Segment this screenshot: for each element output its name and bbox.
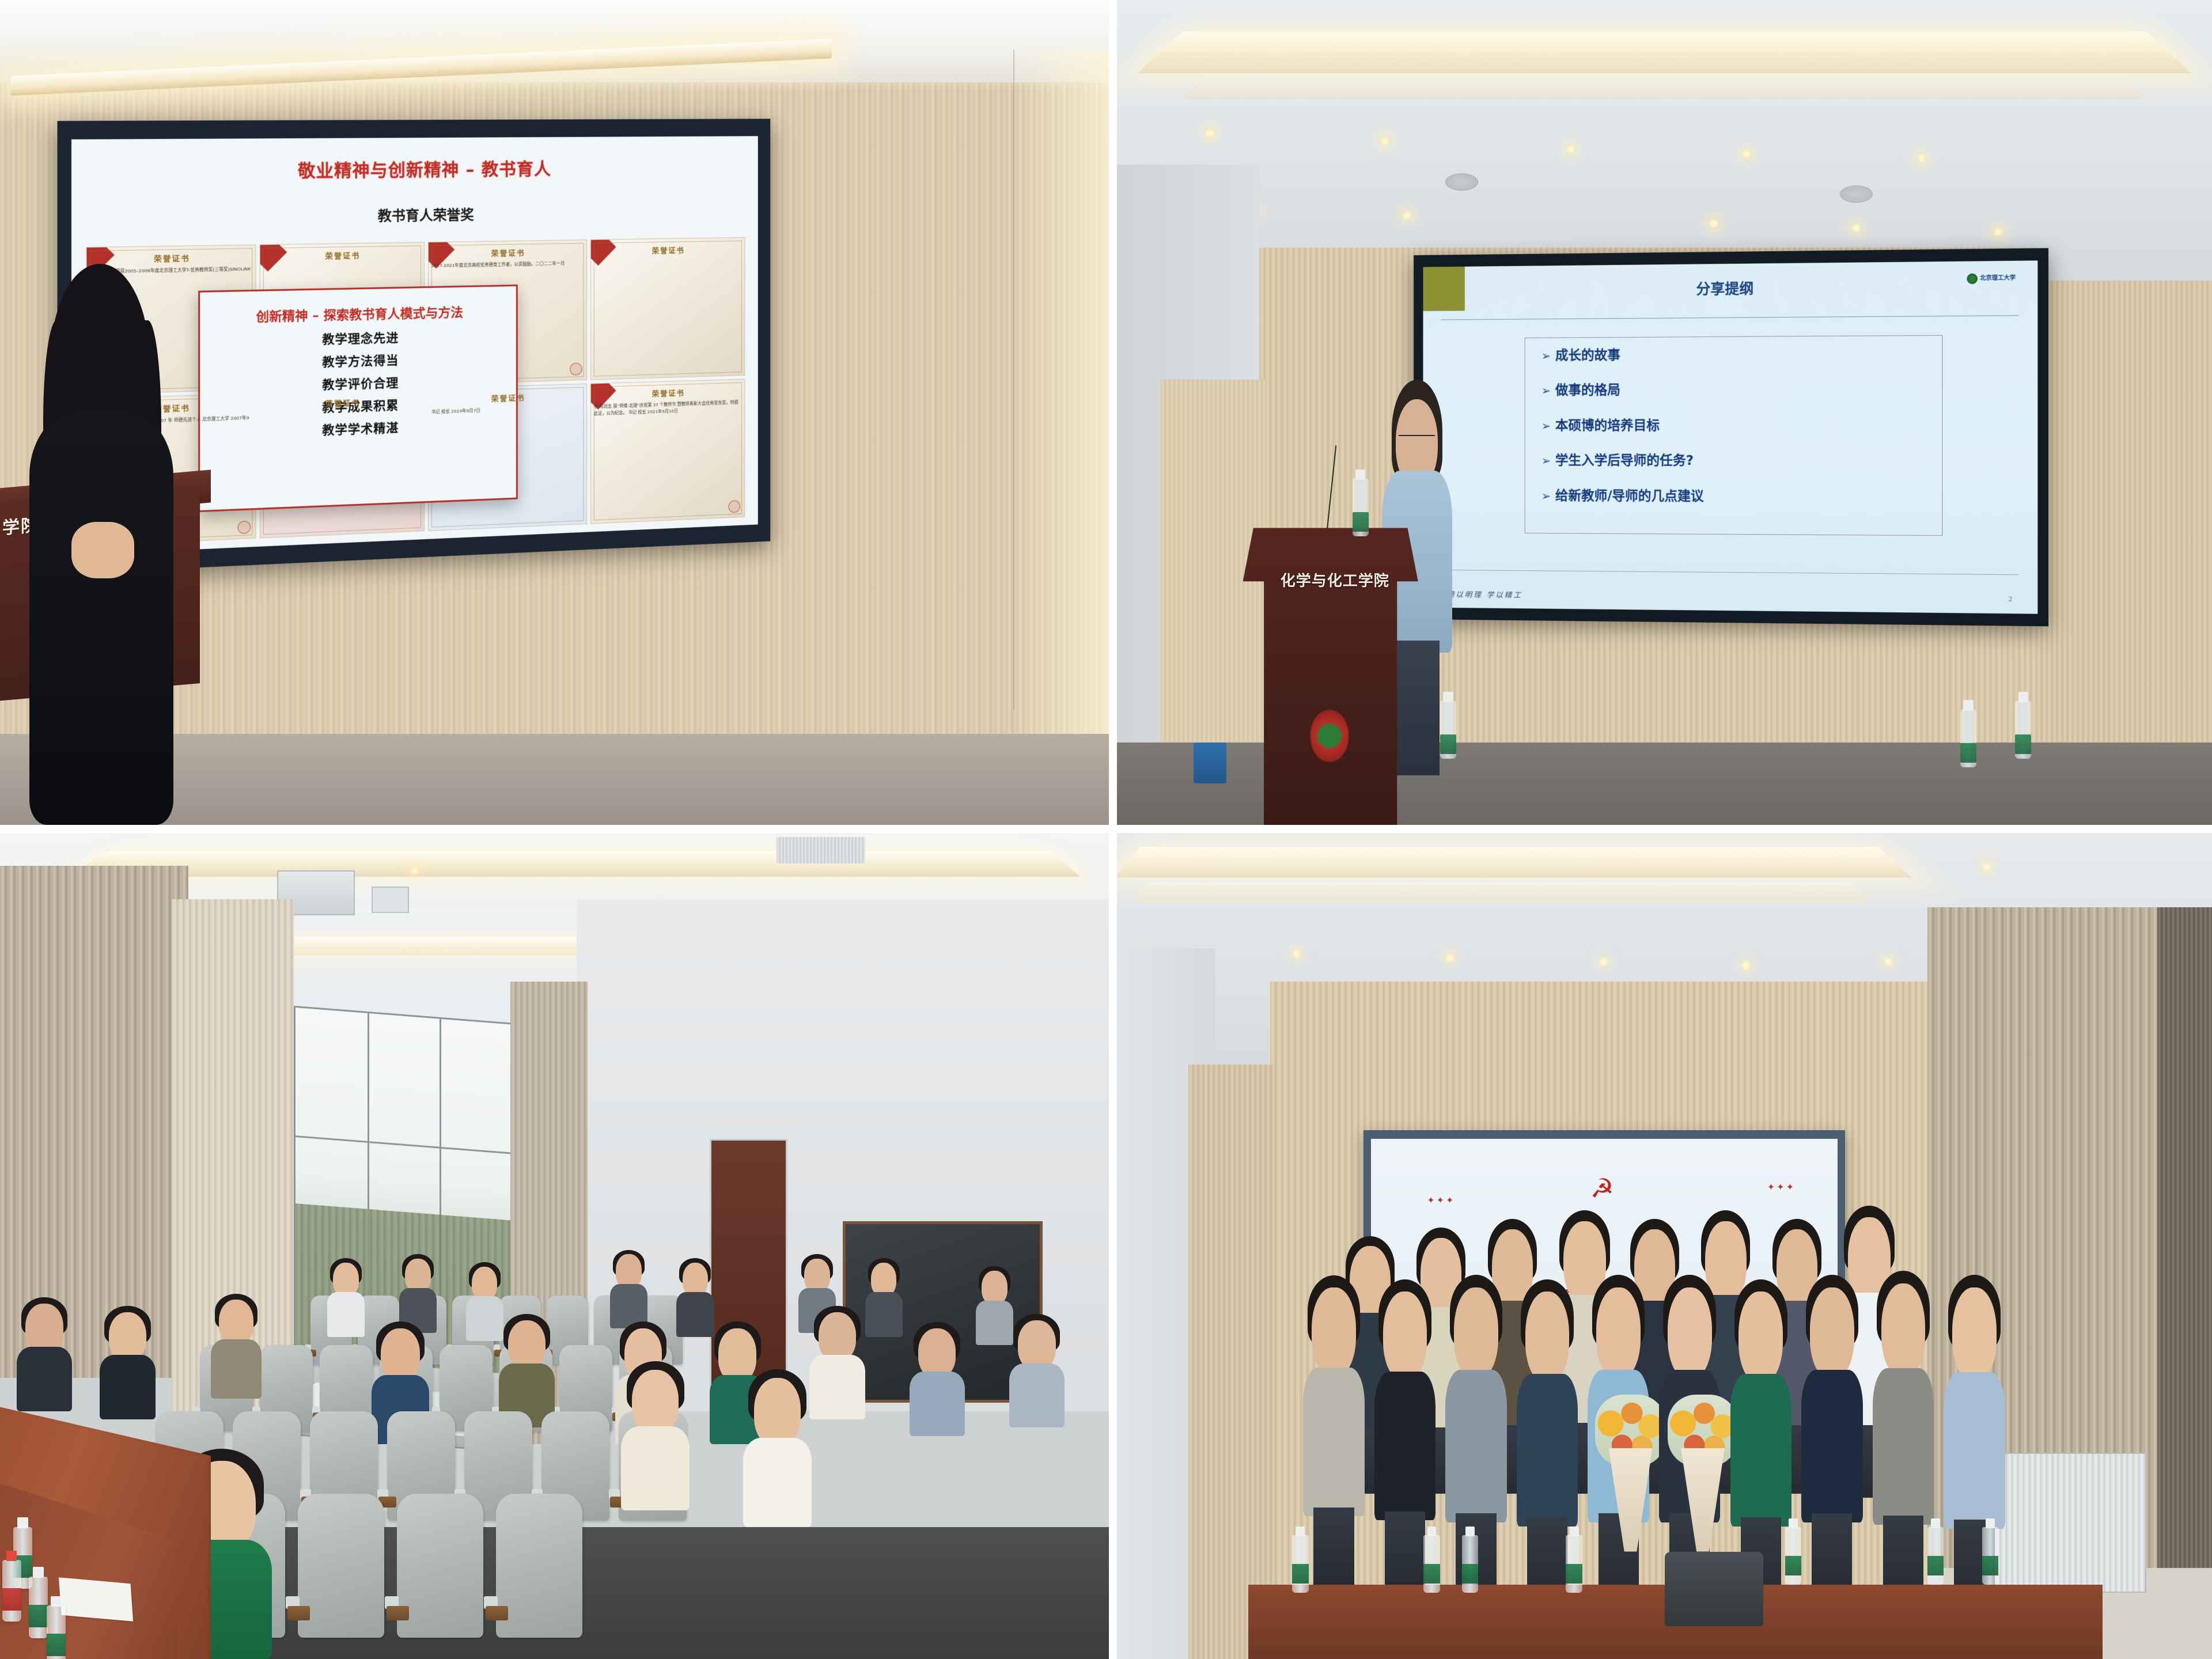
ceiling-grille — [777, 837, 865, 863]
cove-light-inner — [1183, 75, 2145, 100]
downlight — [1851, 223, 1861, 233]
overlay-title: 创新精神 – 探索教书育人模式与方法 — [256, 302, 463, 325]
certificate-body: 李 晖同志 获“师缘·北理”庆祝第 37 个教师节 暨教师表彰大会优秀党务奖，特… — [594, 399, 742, 417]
ceiling-speaker — [1445, 173, 1478, 191]
university-seal-icon — [1310, 710, 1349, 763]
certificate-title: 荣誉证书 — [431, 245, 584, 259]
audience-person — [910, 1328, 965, 1435]
bottle-label — [47, 1634, 66, 1656]
gutter-vertical-bottom — [1109, 833, 1117, 1659]
bouquet-wrapper — [1677, 1448, 1729, 1552]
body — [1944, 1372, 2005, 1529]
bullet-item: ➢给新教师/导师的几点建议 — [1541, 484, 1703, 504]
head — [754, 1378, 801, 1446]
cove-light-right — [1009, 50, 1109, 759]
head — [1454, 1287, 1498, 1379]
head — [1810, 1287, 1854, 1379]
head — [381, 1328, 420, 1381]
head — [804, 1259, 829, 1293]
bullet-label: 学生入学后导师的任务? — [1555, 453, 1694, 468]
audience-person — [809, 1312, 865, 1419]
head — [1668, 1287, 1712, 1379]
photo-collage: 敬业精神与创新精神 – 教书育人 教书育人荣誉奖 荣誉证书 李 晖 老师：荣获2… — [0, 0, 2212, 1659]
body — [1801, 1370, 1862, 1522]
slide-motto: 德以明理 学以精工 — [1447, 589, 1522, 600]
water-bottle — [2, 1560, 21, 1622]
water-bottle — [1423, 1535, 1440, 1593]
slide-canvas: 分享提纲 北京理工大学 ➢成长的故事 ➢做事的格局 ➢本硕博的培养目标 — [1423, 260, 2037, 614]
head — [632, 1370, 679, 1434]
university-logo: 北京理工大学 — [1967, 273, 2016, 284]
water-bottle — [2015, 701, 2032, 759]
body — [1374, 1372, 1435, 1520]
audience-person — [466, 1267, 503, 1341]
certificate-seal — [570, 362, 582, 375]
bottle-label — [1462, 1564, 1479, 1584]
head — [819, 1312, 856, 1362]
head — [1881, 1283, 1926, 1377]
flower-bouquet — [1592, 1395, 1669, 1551]
water-bottle — [1982, 1527, 1999, 1585]
body — [466, 1296, 503, 1340]
downlight — [1741, 149, 1752, 159]
head — [219, 1300, 253, 1345]
logo-text: 北京理工大学 — [1980, 275, 2016, 282]
bullet-label: 给新教师/导师的几点建议 — [1555, 488, 1704, 503]
gutter-vertical-top — [1109, 0, 1117, 825]
cove-light-outer — [1117, 847, 1912, 878]
group-person — [1730, 1291, 1791, 1597]
downlight — [1741, 961, 1751, 971]
logo-emblem-icon — [1967, 273, 1978, 283]
head — [616, 1254, 641, 1288]
hands — [71, 522, 134, 578]
body — [100, 1355, 155, 1419]
downlight — [1884, 957, 1893, 967]
bullet-marker-icon: ➢ — [1541, 419, 1550, 433]
certificate-seal — [238, 521, 251, 534]
body — [976, 1301, 1013, 1345]
certificate-seal — [728, 500, 740, 513]
bullet-item: ➢做事的格局 — [1541, 379, 1620, 399]
head — [871, 1263, 896, 1297]
head — [683, 1263, 708, 1297]
head — [1383, 1291, 1427, 1381]
photo-panel-top-right[interactable]: 分享提纲 北京理工大学 ➢成长的故事 ➢做事的格局 ➢本硕博的培养目标 — [1117, 0, 2212, 825]
bullet-marker-icon: ➢ — [1541, 488, 1550, 502]
header-rule — [1441, 315, 2018, 320]
bottle-label — [1292, 1564, 1309, 1584]
audience-person — [211, 1300, 262, 1399]
water-bottle — [1927, 1527, 1944, 1585]
body — [1445, 1370, 1506, 1522]
body — [865, 1292, 903, 1336]
ceiling-ac-vent-small — [372, 887, 409, 913]
backpack — [1665, 1552, 1763, 1626]
head — [1312, 1287, 1356, 1377]
head — [1596, 1287, 1641, 1379]
cove-light-inner — [1133, 883, 1870, 903]
legs — [1385, 1512, 1425, 1589]
curtain-left — [0, 866, 188, 1378]
head — [472, 1267, 497, 1301]
curtain-right-dark — [2157, 907, 2212, 1568]
head — [25, 1304, 63, 1353]
audience-person — [621, 1370, 690, 1510]
audience-person — [327, 1263, 365, 1337]
bottle-label — [1785, 1556, 1802, 1575]
body — [327, 1292, 365, 1336]
bouquet-wrapper — [1604, 1448, 1656, 1552]
water-bottle — [1353, 479, 1369, 536]
body — [17, 1347, 72, 1411]
body — [809, 1355, 865, 1419]
legs — [1313, 1508, 1354, 1585]
glasses-icon — [1399, 435, 1435, 450]
downlight — [1599, 957, 1608, 967]
overlay-item: 教学方法得当 — [323, 351, 399, 370]
body — [621, 1426, 690, 1510]
body-dress — [29, 410, 173, 825]
legs — [1812, 1513, 1852, 1593]
photo-panel-bottom-right[interactable]: ✦✦✦ ✦✦✦ ☭ 师德传承·党日活动 —— 化学工程、能源化工、应用化学、实验… — [1117, 833, 2212, 1659]
bottle-label — [1423, 1564, 1440, 1584]
body — [910, 1372, 965, 1436]
body — [1303, 1368, 1364, 1516]
bullet-label: 本硕博的培养目标 — [1555, 418, 1660, 433]
group-person — [1801, 1287, 1862, 1593]
water-bottle — [1462, 1535, 1479, 1593]
water-bottle — [1292, 1535, 1309, 1593]
audience-person — [865, 1263, 903, 1337]
armrest-knob — [484, 1596, 498, 1609]
slide-title: 分享提纲 — [1423, 274, 2037, 301]
water-bottle — [1785, 1527, 1802, 1585]
bullet-marker-icon: ➢ — [1541, 349, 1550, 362]
bullet-box: ➢成长的故事 ➢做事的格局 ➢本硕博的培养目标 ➢学生入学后导师的任务? ➢给新… — [1524, 335, 1942, 536]
audience-person — [743, 1378, 812, 1527]
speaker-person — [26, 264, 176, 825]
bullet-marker-icon: ➢ — [1541, 454, 1550, 468]
window-transom — [296, 1135, 514, 1154]
bottle-label — [29, 1605, 48, 1627]
downlight — [410, 866, 419, 875]
armrest-knob — [385, 1596, 399, 1609]
body — [1873, 1368, 1934, 1525]
head — [1738, 1291, 1783, 1383]
audience-person — [1009, 1320, 1065, 1427]
head — [918, 1328, 956, 1378]
certificate-title: 荣誉证书 — [594, 385, 742, 400]
slide-subtitle: 教书育人荣誉奖 — [71, 200, 757, 229]
bottle-label — [1982, 1556, 1999, 1575]
downlight — [1916, 153, 1927, 163]
body-green — [1730, 1374, 1791, 1527]
bullet-label: 做事的格局 — [1555, 382, 1620, 397]
water-bottle — [1440, 701, 1457, 759]
body — [211, 1339, 262, 1399]
bullet-label: 成长的故事 — [1555, 347, 1620, 362]
audience-person — [17, 1304, 72, 1411]
water-bottle — [29, 1577, 48, 1639]
certificate-body — [594, 257, 742, 259]
seat — [298, 1494, 384, 1638]
paper-document — [59, 1577, 133, 1621]
bottle-label — [1927, 1556, 1944, 1575]
body — [1009, 1363, 1065, 1428]
lectern-label: 化学与化工学院 — [1253, 569, 1417, 590]
water-bottle — [47, 1605, 66, 1659]
blue-chair — [1194, 743, 1226, 784]
audience-person — [976, 1271, 1013, 1345]
head — [508, 1320, 546, 1370]
armrest-knob — [609, 1489, 620, 1499]
overlay-item: 教学学术精湛 — [323, 418, 399, 438]
body — [1517, 1374, 1578, 1527]
left-wood-panel — [1188, 1065, 1276, 1659]
head — [1525, 1291, 1570, 1383]
seat — [397, 1494, 483, 1638]
photo-panel-top-left[interactable]: 敬业精神与创新精神 – 教书育人 教书育人荣誉奖 荣誉证书 李 晖 老师：荣获2… — [0, 0, 1109, 825]
audience-person — [676, 1263, 714, 1337]
cove-light-outer — [69, 851, 1080, 877]
downlight — [1993, 227, 2003, 237]
audience-person — [610, 1254, 647, 1328]
certificate-body — [264, 263, 422, 266]
overlay-item: 教学评价合理 — [323, 373, 399, 393]
water-bottle — [1566, 1535, 1582, 1593]
bullet-item: ➢本硕博的培养目标 — [1541, 414, 1659, 434]
head — [982, 1271, 1007, 1305]
projection-screen: 分享提纲 北京理工大学 ➢成长的故事 ➢做事的格局 ➢本硕博的培养目标 — [1414, 248, 2048, 626]
head — [405, 1259, 430, 1293]
bullet-item: ➢学生入学后导师的任务? — [1541, 449, 1693, 469]
body — [676, 1292, 714, 1336]
ceiling-speaker — [1840, 185, 1873, 203]
certificate-title: 荣誉证书 — [90, 251, 253, 264]
armrest-knob — [286, 1596, 300, 1609]
bottle-label — [1566, 1564, 1582, 1584]
certificate-item: 荣誉证书 — [591, 237, 745, 380]
certificate-body: 2017-2021年度北京高校优秀德育工作者，以资鼓励。二〇二二年一月 — [431, 260, 584, 269]
group-person — [1873, 1283, 1934, 1597]
seat — [496, 1494, 582, 1638]
cove-light-outer — [1137, 32, 2191, 73]
gutter-horizontal — [0, 825, 2212, 833]
birds-right-icon: ✦✦✦ — [1767, 1182, 1796, 1192]
head — [333, 1263, 358, 1297]
certificate-title: 荣誉证书 — [264, 248, 422, 262]
downlight — [1709, 218, 1719, 229]
birds-left-icon: ✦✦✦ — [1427, 1195, 1455, 1206]
slide-title: 敬业精神与创新精神 – 教书育人 — [71, 153, 757, 184]
bullet-marker-icon: ➢ — [1541, 384, 1550, 397]
head — [1018, 1320, 1055, 1370]
certificate-title: 荣誉证书 — [594, 243, 742, 256]
slide-page-number: 2 — [2008, 596, 2012, 603]
photo-panel-bottom-left[interactable] — [0, 833, 1109, 1659]
group-person — [1303, 1287, 1364, 1585]
certificate-item: 荣誉证书 李 晖同志 获“师缘·北理”庆祝第 37 个教师节 暨教师表彰大会优秀… — [591, 378, 745, 524]
bullet-item: ➢成长的故事 — [1541, 343, 1620, 363]
audience-person — [100, 1312, 155, 1419]
bottle-label — [2, 1588, 21, 1611]
downlight — [1205, 128, 1215, 138]
head — [109, 1312, 146, 1362]
body — [743, 1438, 812, 1527]
head — [718, 1328, 756, 1381]
footer-rule — [1441, 570, 2018, 575]
head — [1952, 1287, 1997, 1381]
water-bottle — [1960, 710, 1977, 767]
legs — [1395, 641, 1440, 775]
overlay-item: 教学理念先进 — [323, 328, 399, 347]
wall-corner — [1013, 50, 1014, 710]
